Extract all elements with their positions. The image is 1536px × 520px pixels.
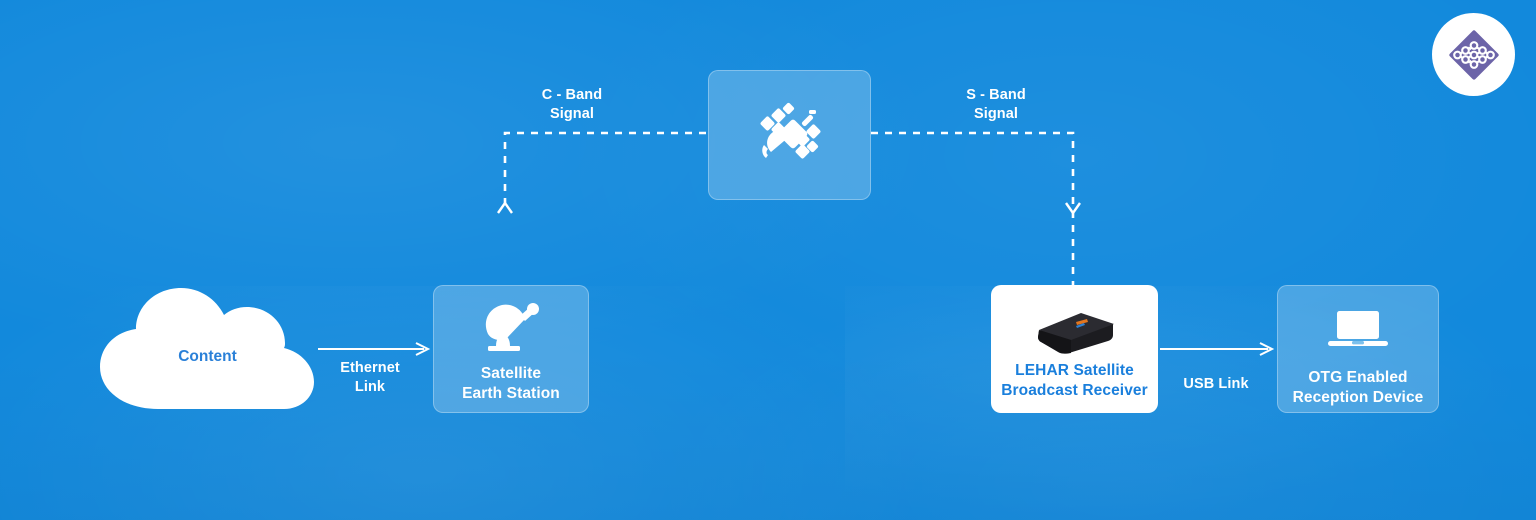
set-top-box-icon-wrap: [1029, 301, 1121, 357]
s-band-signal-label: S - Band Signal: [922, 86, 1070, 124]
label-line-1: S - Band: [922, 86, 1070, 105]
lehar-receiver-label: LEHAR Satellite Broadcast Receiver: [1001, 361, 1148, 401]
c-band-signal-label: C - Band Signal: [498, 86, 646, 124]
satellite-earth-station-node[interactable]: Satellite Earth Station: [433, 285, 589, 413]
satellite-node[interactable]: [708, 70, 871, 200]
satellite-icon: [751, 96, 829, 174]
brand-logo[interactable]: [1432, 13, 1515, 96]
label-line-1: USB Link: [1160, 375, 1272, 394]
endless-knot-logo-icon: [1444, 25, 1504, 85]
set-top-box-icon: [1029, 301, 1121, 357]
satellite-earth-station-label: Satellite Earth Station: [462, 364, 560, 404]
lehar-receiver-node[interactable]: LEHAR Satellite Broadcast Receiver: [991, 285, 1158, 413]
label-line-2: Signal: [498, 105, 646, 124]
label-line-2: Earth Station: [462, 384, 560, 404]
otg-device-node[interactable]: OTG Enabled Reception Device: [1277, 285, 1439, 413]
content-cloud-node[interactable]: Content: [95, 285, 320, 410]
label-line-1: OTG Enabled: [1293, 368, 1424, 388]
content-label: Content: [95, 348, 320, 366]
diagram-canvas: Content Satellite Earth Station: [0, 0, 1536, 520]
label-line-2: Link: [300, 378, 440, 397]
label-line-1: Ethernet: [300, 359, 440, 378]
usb-link-label: USB Link: [1160, 375, 1272, 394]
satellite-dish-icon-wrap: [480, 303, 542, 355]
laptop-icon-wrap: [1327, 306, 1389, 356]
label-line-2: Reception Device: [1293, 388, 1424, 408]
laptop-icon: [1327, 308, 1389, 354]
label-line-1: LEHAR Satellite: [1001, 361, 1148, 381]
label-line-1: C - Band: [498, 86, 646, 105]
label-line-2: Signal: [922, 105, 1070, 124]
label-line-1: Satellite: [462, 364, 560, 384]
otg-device-label: OTG Enabled Reception Device: [1293, 368, 1424, 408]
ethernet-link-label: Ethernet Link: [300, 359, 440, 397]
satellite-dish-icon: [480, 303, 542, 355]
label-line-2: Broadcast Receiver: [1001, 381, 1148, 401]
